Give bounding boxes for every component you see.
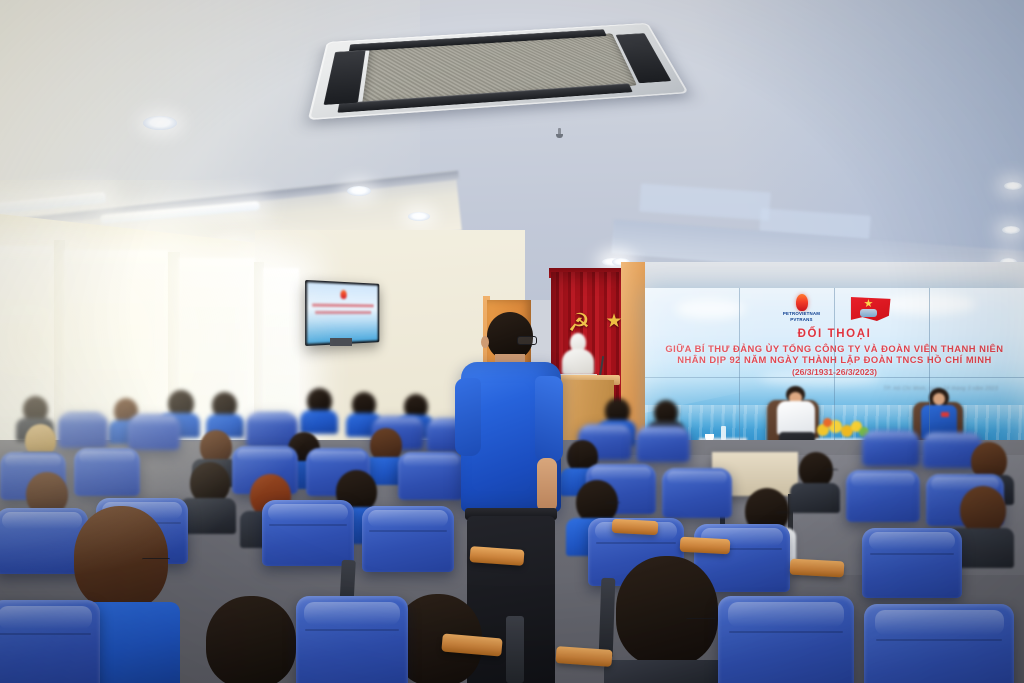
ceiling-downlight (408, 212, 430, 221)
glasses-icon (142, 558, 170, 561)
glasses-icon (686, 618, 716, 621)
attendee (180, 462, 236, 532)
seat-armrest (680, 537, 731, 555)
ceiling-downlight (347, 186, 371, 196)
attendee-foreground (196, 596, 306, 683)
seat[interactable] (0, 600, 100, 683)
ear (481, 336, 489, 348)
seat[interactable] (864, 604, 1014, 683)
tv-logo-icon (340, 290, 346, 299)
seat[interactable] (74, 448, 140, 496)
tv-screen-content (307, 282, 378, 344)
seat[interactable] (862, 528, 962, 598)
seat[interactable] (362, 506, 454, 572)
seat[interactable] (636, 426, 690, 462)
sprinkler-head (556, 128, 563, 139)
glasses-icon (826, 469, 838, 472)
ceiling-downlight (143, 116, 177, 130)
seat[interactable] (296, 596, 408, 683)
ceiling-downlight (1002, 226, 1020, 234)
tv-wall-mount (330, 338, 352, 346)
conference-hall-photo: ☭ ★ PETROVIETNAM PVTRANS ★ ĐỐI (0, 0, 1024, 683)
on-screen-bottle (721, 426, 726, 440)
glasses-icon (606, 502, 620, 505)
attendee (300, 388, 338, 432)
attendee-foreground (600, 556, 730, 683)
seat-armrest (790, 559, 845, 578)
seat[interactable] (846, 470, 920, 522)
seat[interactable] (662, 468, 732, 518)
attendee (790, 452, 840, 512)
seat[interactable] (58, 412, 108, 448)
seat[interactable] (262, 500, 354, 566)
seat[interactable] (862, 430, 920, 466)
forearm (537, 458, 557, 512)
youth-union-flag-icon: ★ (851, 295, 891, 325)
ceiling-downlight (1004, 182, 1022, 190)
wall-mounted-tv (305, 280, 379, 346)
glasses-icon (776, 512, 791, 515)
seat[interactable] (718, 596, 854, 683)
seat-armrest (612, 519, 659, 535)
sleeve-right (535, 376, 563, 462)
ho-chi-minh-bust (561, 333, 595, 377)
glasses-icon (517, 336, 537, 345)
seat[interactable] (128, 414, 180, 450)
seat-frame (506, 616, 524, 683)
sleeve-left (455, 378, 481, 456)
